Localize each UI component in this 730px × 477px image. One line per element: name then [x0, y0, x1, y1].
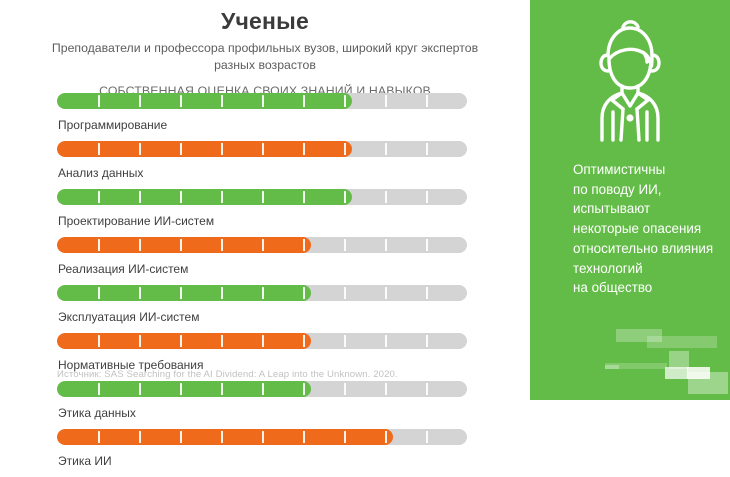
tick-mark — [385, 335, 387, 347]
bar-track — [57, 381, 467, 397]
bar-row: Этика данных — [57, 381, 467, 429]
page-title: Ученые — [30, 8, 500, 34]
bar-track — [57, 429, 467, 445]
panel-caption: Оптимистичныпо поводу ИИ,испытываютнекот… — [573, 160, 730, 298]
tick-mark — [426, 383, 428, 395]
source-note: Источник: SAS Searching for the AI Divid… — [57, 369, 398, 380]
panel-caption-line: испытывают — [573, 199, 730, 219]
tick-mark — [344, 287, 346, 299]
bar-track — [57, 333, 467, 349]
panel-caption-line: Оптимистичны — [573, 160, 730, 180]
panel-caption-line: некоторые опасения — [573, 219, 730, 239]
bar-row: Этика ИИ — [57, 429, 467, 477]
infographic-poster: Ученые Преподаватели и профессора профил… — [0, 0, 730, 400]
bar-row: Проектирование ИИ-систем — [57, 189, 467, 237]
bar-track — [57, 141, 467, 157]
bar-label: Этика данных — [57, 397, 467, 429]
tick-mark — [426, 143, 428, 155]
bar-track — [57, 189, 467, 205]
tick-mark — [344, 383, 346, 395]
main-content: Ученые Преподаватели и профессора профил… — [0, 0, 530, 400]
bar-fill — [57, 381, 311, 397]
panel-caption-line: относительно влияния — [573, 239, 730, 259]
bar-label: Программирование — [57, 109, 467, 141]
tick-mark — [344, 335, 346, 347]
panel-caption-line: на общество — [573, 278, 730, 298]
bar-track — [57, 93, 467, 109]
tick-mark — [426, 287, 428, 299]
bar-label: Реализация ИИ-систем — [57, 253, 467, 285]
bar-fill — [57, 141, 352, 157]
bar-fill — [57, 93, 352, 109]
tick-mark — [385, 143, 387, 155]
bar-row: Эксплуатация ИИ-систем — [57, 285, 467, 333]
bar-track — [57, 285, 467, 301]
panel-caption-line: по поводу ИИ, — [573, 180, 730, 200]
tick-mark — [426, 239, 428, 251]
tick-mark — [385, 95, 387, 107]
skills-bar-chart: ПрограммированиеАнализ данныхПроектирова… — [57, 93, 467, 477]
side-panel: Оптимистичныпо поводу ИИ,испытываютнекот… — [530, 0, 730, 400]
bar-label: Эксплуатация ИИ-систем — [57, 301, 467, 333]
page-subtitle: Преподаватели и профессора профильных ву… — [30, 40, 500, 72]
panel-caption-line: технологий — [573, 259, 730, 279]
bar-fill — [57, 237, 311, 253]
bar-fill — [57, 189, 352, 205]
bar-fill — [57, 333, 311, 349]
tick-mark — [426, 191, 428, 203]
header-block: Ученые Преподаватели и профессора профил… — [0, 0, 530, 98]
tick-mark — [426, 95, 428, 107]
bar-label: Этика ИИ — [57, 445, 467, 477]
bar-fill — [57, 429, 393, 445]
tick-mark — [426, 335, 428, 347]
scientist-avatar-icon — [582, 14, 678, 146]
tick-mark — [344, 239, 346, 251]
bar-label: Проектирование ИИ-систем — [57, 205, 467, 237]
bar-row: Реализация ИИ-систем — [57, 237, 467, 285]
tick-mark — [385, 191, 387, 203]
tick-mark — [385, 239, 387, 251]
bar-row: Анализ данных — [57, 141, 467, 189]
tick-mark — [385, 383, 387, 395]
bar-fill — [57, 285, 311, 301]
tick-mark — [426, 431, 428, 443]
bar-label: Анализ данных — [57, 157, 467, 189]
bar-row: Программирование — [57, 93, 467, 141]
bar-track — [57, 237, 467, 253]
tick-mark — [385, 287, 387, 299]
